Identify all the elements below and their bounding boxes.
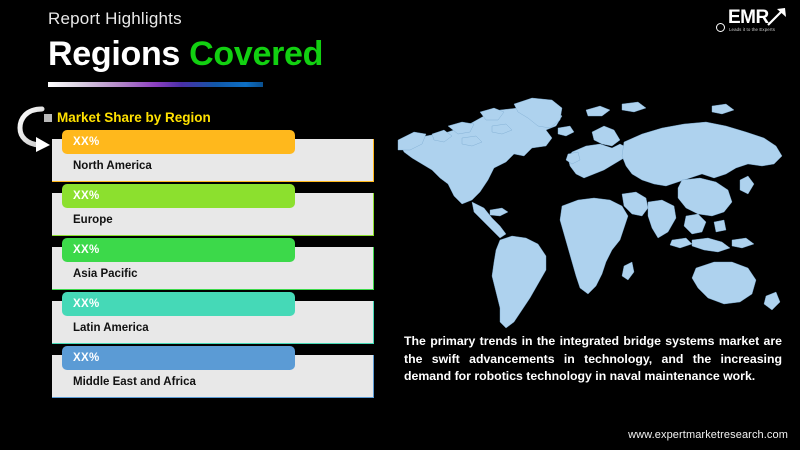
- page-title-part-accent: Covered: [189, 35, 323, 73]
- legend-swatch-icon: [44, 114, 52, 122]
- region-row-asia-pacific: XX% Asia Pacific: [0, 238, 400, 290]
- region-row-europe: XX% Europe: [0, 184, 400, 236]
- region-row-latin-america: XX% Latin America: [0, 292, 400, 344]
- region-label: Europe: [73, 213, 113, 227]
- region-bar-list: XX% North America XX% Europe XX% Asia Pa…: [0, 130, 400, 400]
- growth-arrow-icon: [766, 6, 788, 26]
- report-kicker: Report Highlights: [48, 8, 448, 30]
- region-bar[interactable]: XX%: [62, 346, 295, 370]
- region-row-north-america: XX% North America: [0, 130, 400, 182]
- region-bar-value: XX%: [73, 136, 99, 149]
- legend-label: Market Share by Region: [57, 110, 211, 126]
- region-bar-value: XX%: [73, 298, 99, 311]
- slide-canvas: Report Highlights Regions Covered EMR Le…: [0, 0, 800, 450]
- region-bar[interactable]: XX%: [62, 130, 295, 154]
- region-bar[interactable]: XX%: [62, 292, 295, 316]
- logo-wordmark: EMR: [728, 8, 769, 27]
- emr-logo: EMR Leads it to the Experts: [714, 6, 790, 38]
- page-title: Regions Covered: [48, 34, 448, 74]
- region-bar[interactable]: XX%: [62, 238, 295, 262]
- region-bar-value: XX%: [73, 190, 99, 203]
- region-bar-value: XX%: [73, 244, 99, 257]
- logo-tagline: Leads it to the Experts: [729, 27, 775, 33]
- market-share-chart: Market Share by Region XX% North America…: [0, 104, 400, 409]
- region-row-middle-east-africa: XX% Middle East and Africa: [0, 346, 400, 398]
- header-block: Report Highlights Regions Covered: [48, 8, 448, 87]
- region-bar[interactable]: XX%: [62, 184, 295, 208]
- region-label: Asia Pacific: [73, 267, 138, 281]
- page-title-part-primary: Regions: [48, 35, 189, 73]
- region-bar-value: XX%: [73, 352, 99, 365]
- summary-paragraph: The primary trends in the integrated bri…: [404, 333, 782, 386]
- region-label: Latin America: [73, 321, 149, 335]
- chart-legend: Market Share by Region: [44, 110, 211, 126]
- title-gradient-rule: [48, 82, 263, 87]
- logo-circle-icon: [716, 23, 725, 32]
- region-label: North America: [73, 159, 152, 173]
- world-map-graphic: [396, 82, 800, 330]
- footer-url: www.expertmarketresearch.com: [628, 428, 788, 442]
- region-label: Middle East and Africa: [73, 375, 196, 389]
